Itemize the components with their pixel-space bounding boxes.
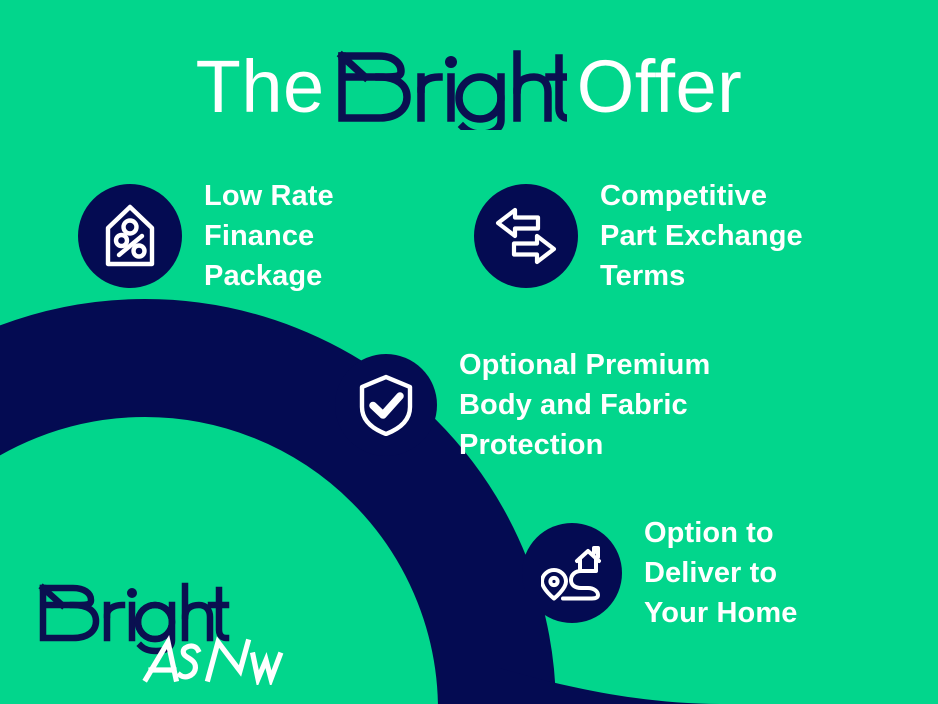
benefit-label: Optional Premium Body and Fabric Protect…: [459, 345, 710, 465]
promo-poster: The Offer: [0, 0, 938, 704]
corner-wedge: [500, 668, 700, 704]
benefit-item-part-exchange: Competitive Part Exchange Terms: [474, 176, 803, 296]
headline-prefix: The: [196, 45, 325, 128]
benefit-item-low-rate-finance: Low Rate Finance Package: [78, 176, 334, 296]
brand-i-dot: [127, 588, 137, 598]
benefit-icon-badge: [522, 523, 622, 623]
benefit-label: Low Rate Finance Package: [204, 176, 334, 296]
price-tag-percent-icon: [102, 204, 158, 268]
benefit-label: Competitive Part Exchange Terms: [600, 176, 803, 296]
corner-wedge-fill: [500, 668, 720, 704]
benefit-label: Option to Deliver to Your Home: [644, 513, 797, 633]
benefit-item-body-fabric-protection: Optional Premium Body and Fabric Protect…: [335, 345, 710, 465]
benefit-icon-badge: [78, 184, 182, 288]
headline-suffix: Offer: [577, 45, 743, 128]
page-title: The Offer: [0, 42, 938, 132]
headline-bright-logo: [335, 44, 567, 134]
brand-logo-bright-asnew: [38, 580, 298, 685]
benefit-icon-badge: [335, 354, 437, 456]
benefit-item-home-delivery: Option to Deliver to Your Home: [522, 513, 797, 633]
delivery-route-home-icon: [541, 544, 603, 602]
exchange-arrows-icon: [494, 206, 558, 266]
brand-logo-lockup: [38, 580, 298, 685]
shield-check-icon: [358, 374, 414, 436]
brand-wordmark-asnew: [146, 642, 280, 679]
benefit-icon-badge: [474, 184, 578, 288]
